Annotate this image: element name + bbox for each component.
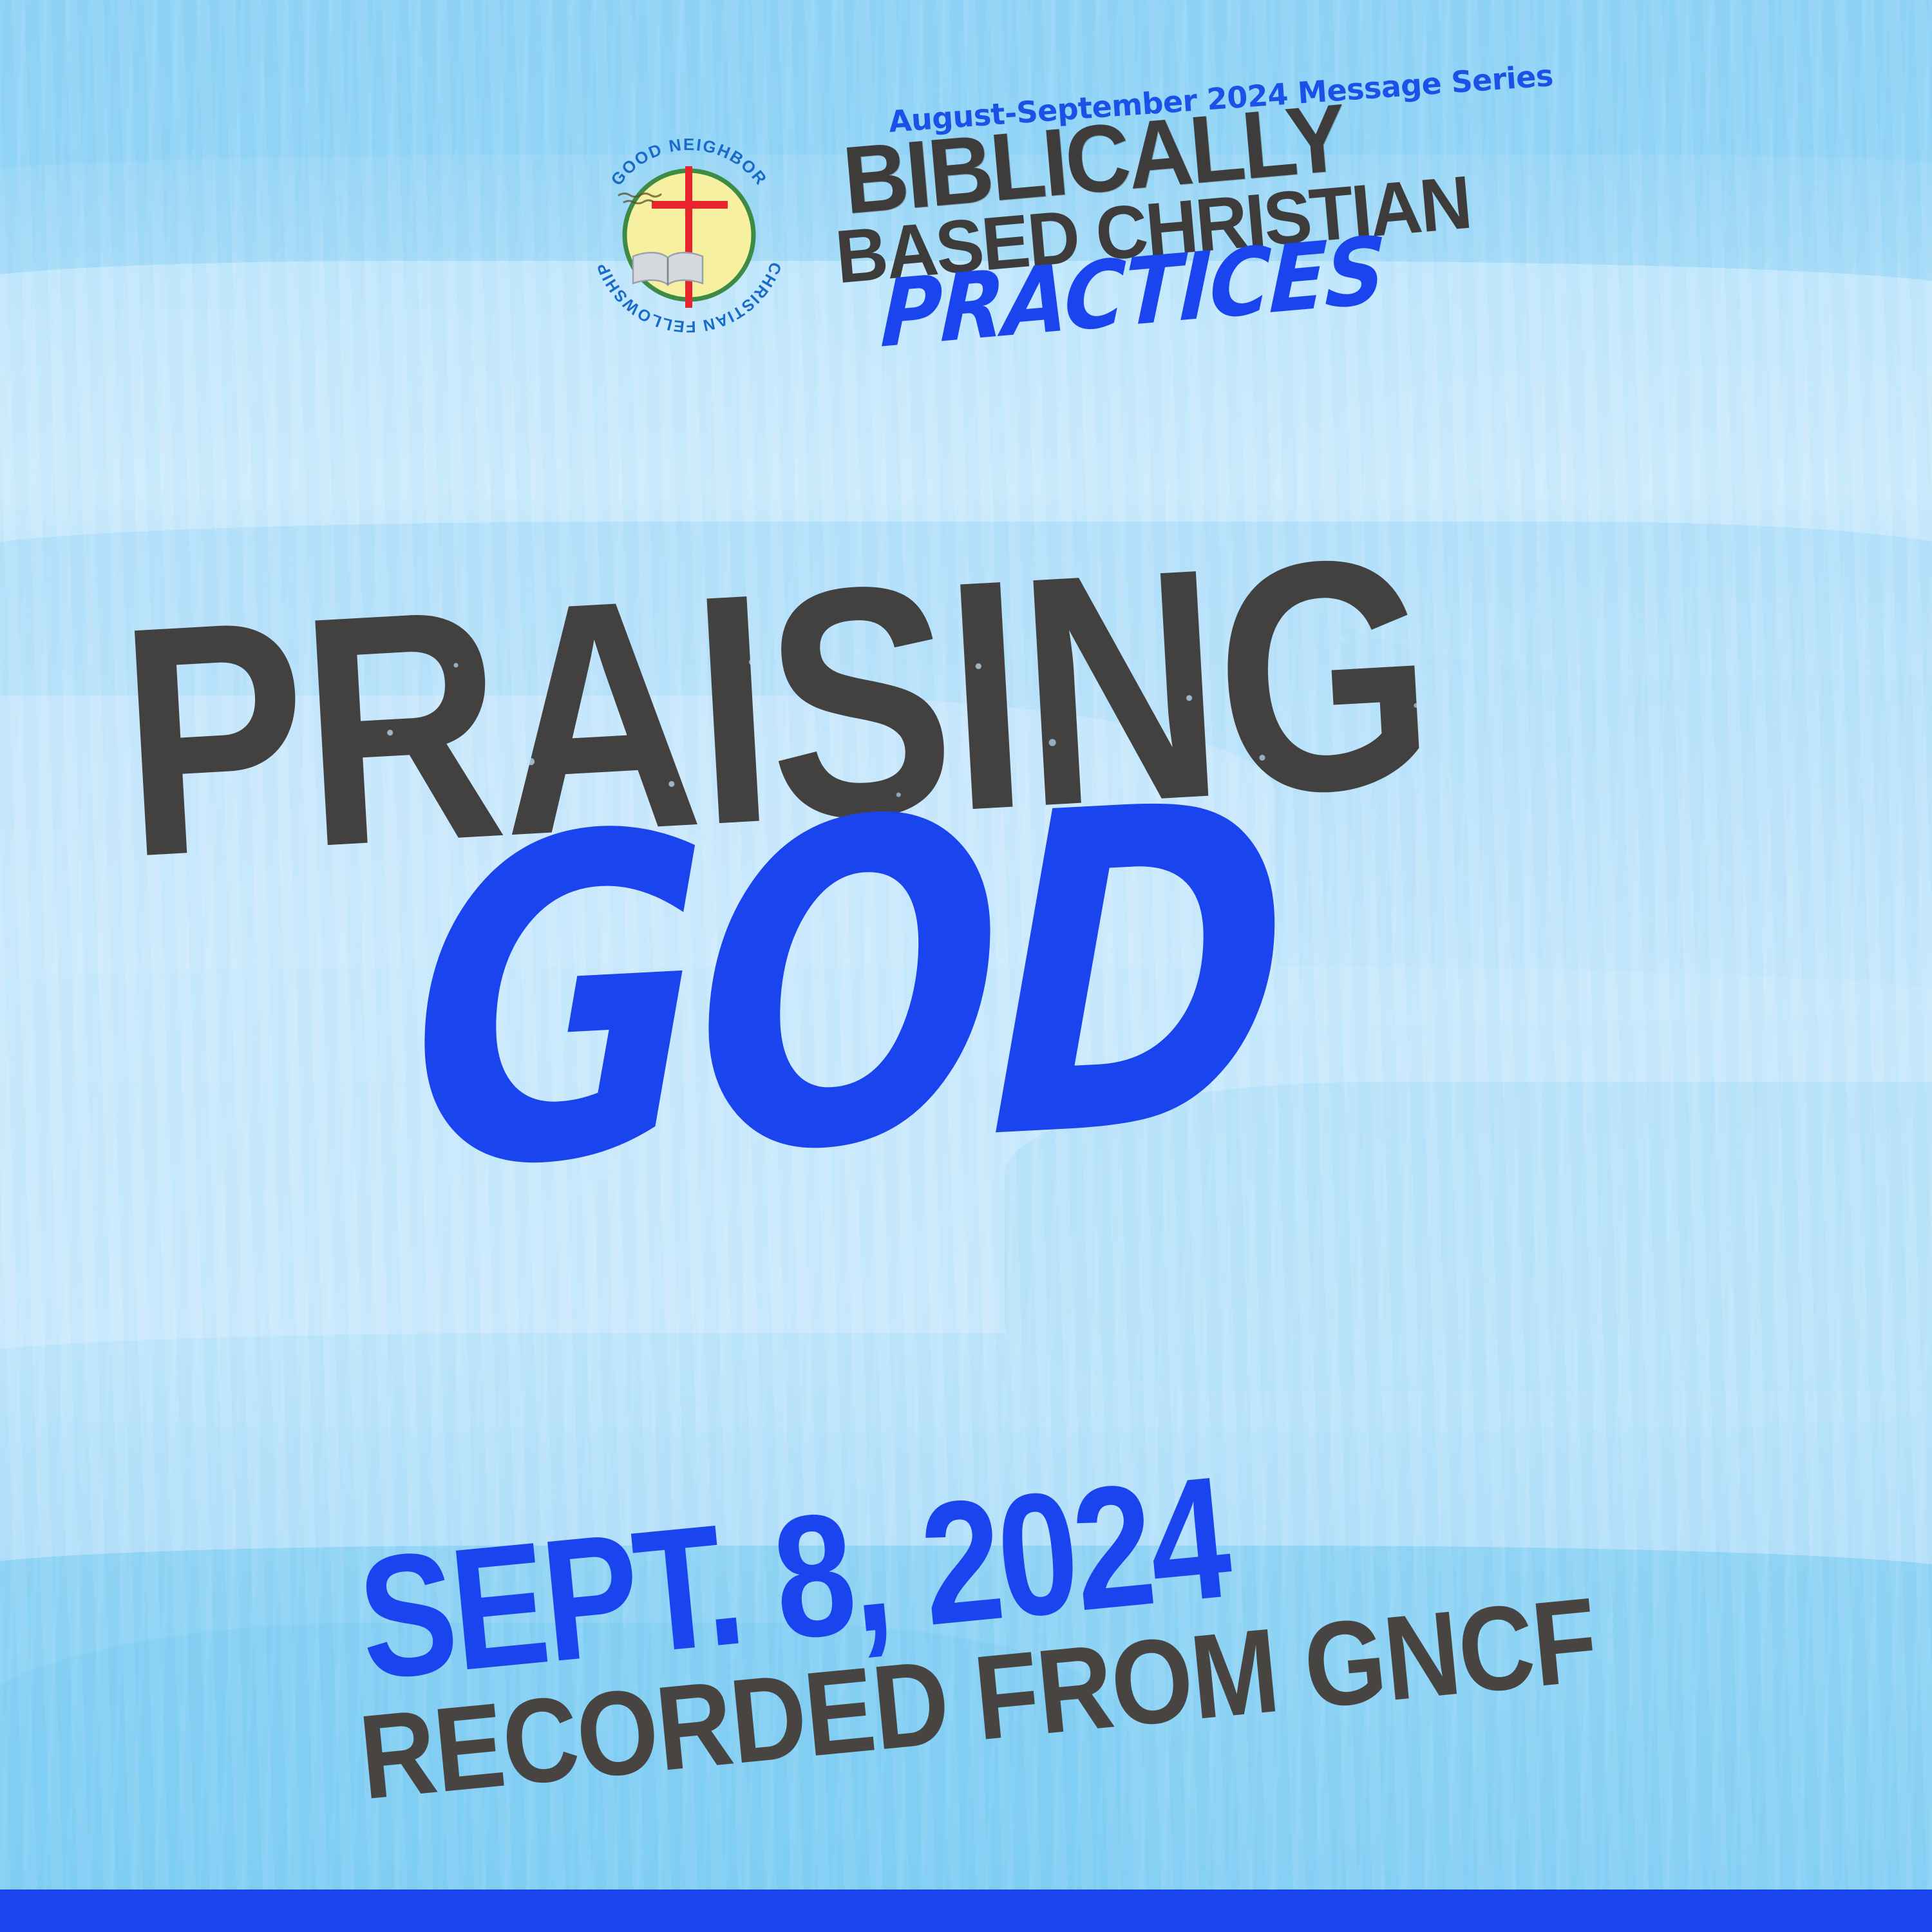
- bottom-accent-bar: [0, 1889, 1932, 1932]
- church-logo: GOOD NEIGHBOR CHRISTIAN FELLOWSHIP: [583, 129, 795, 341]
- sermon-title-line-2: GOD: [408, 745, 1282, 1231]
- sermon-series-poster: GOOD NEIGHBOR CHRISTIAN FELLOWSHIP Augus…: [0, 0, 1932, 1932]
- logo-open-book-icon: [633, 252, 703, 285]
- series-header: August-September 2024 Message Series BIB…: [831, 90, 1571, 361]
